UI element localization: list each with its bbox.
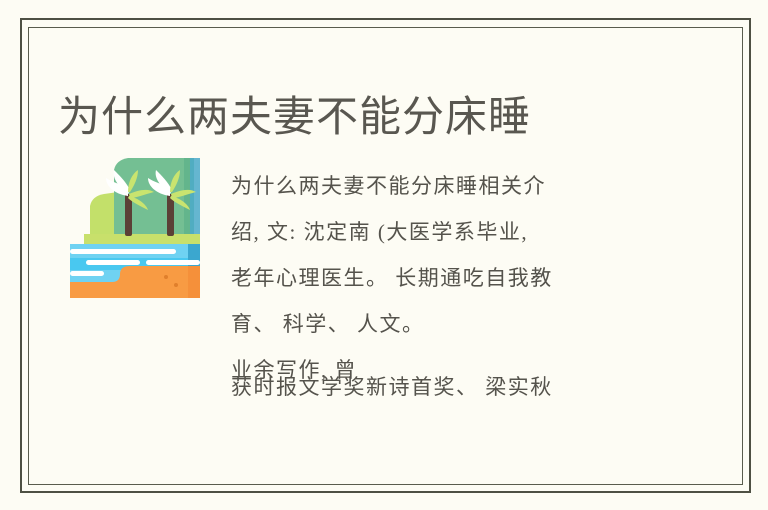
summary-line: 老年心理医生。 长期通吃自我教: [231, 255, 661, 301]
article-card-page: 为什么两夫妻不能分床睡: [0, 0, 768, 510]
summary-line-overlap-lower: 获时报文学奖新诗首奖、 梁实秋: [231, 364, 661, 410]
article-summary: 为什么两夫妻不能分床睡相关介 绍, 文: 沈定南 (大医学系毕业, 老年心理医生…: [231, 163, 661, 393]
page-title: 为什么两夫妻不能分床睡: [58, 90, 698, 144]
summary-line: 绍, 文: 沈定南 (大医学系毕业,: [231, 209, 661, 255]
beach-island-palm-trees-icon: [62, 148, 208, 304]
summary-line: 为什么两夫妻不能分床睡相关介: [231, 163, 661, 209]
summary-line: 育、 科学、 人文。: [231, 301, 661, 347]
article-thumbnail: [62, 148, 208, 304]
overlapping-summary-lines: 业余写作, 曾 获时报文学奖新诗首奖、 梁实秋: [231, 347, 661, 393]
